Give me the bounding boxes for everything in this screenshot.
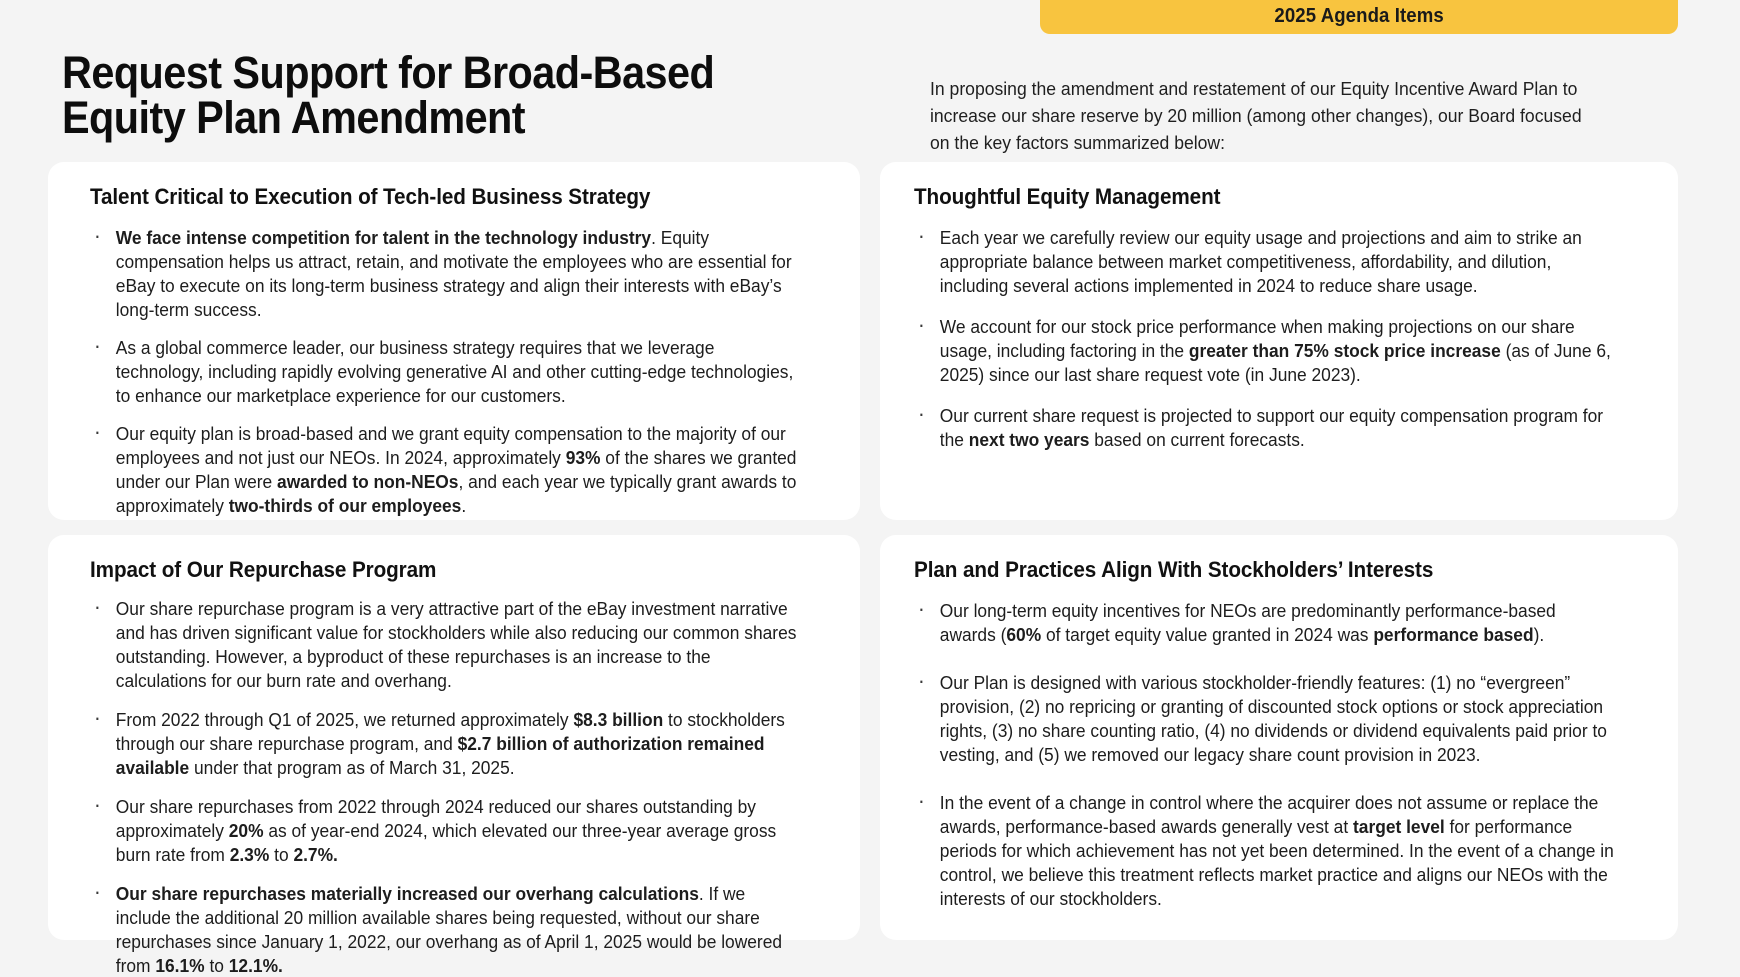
bullet-item: Our share repurchases materially increas… xyxy=(90,882,797,977)
card-heading: Talent Critical to Execution of Tech-led… xyxy=(90,184,786,210)
page-title: Request Support for Broad-Based Equity P… xyxy=(62,50,761,140)
bullet-emphasis: We face intense competition for talent i… xyxy=(116,228,651,248)
bullet-emphasis: 20% xyxy=(229,821,264,841)
bullet-list: We face intense competition for talent i… xyxy=(90,226,830,518)
bullet-emphasis: next two years xyxy=(969,430,1090,450)
bullet-item: In the event of a change in control wher… xyxy=(914,791,1615,911)
bullet-text: to xyxy=(205,956,229,976)
intro-paragraph: In proposing the amendment and restateme… xyxy=(930,76,1600,156)
bullet-item: Our Plan is designed with various stockh… xyxy=(914,671,1615,767)
bullet-emphasis: 93% xyxy=(566,448,601,468)
bullet-emphasis: 2.7%. xyxy=(293,845,337,865)
bullet-emphasis: 2.3% xyxy=(230,845,270,865)
card-plan-practices-align: Plan and Practices Align With Stockholde… xyxy=(880,535,1678,940)
bullet-text: As a global commerce leader, our busines… xyxy=(116,338,794,406)
card-heading: Impact of Our Repurchase Program xyxy=(90,557,786,583)
agenda-banner-label: 2025 Agenda Items xyxy=(1274,5,1443,28)
bullet-text: Our share repurchase program is a very a… xyxy=(116,599,797,691)
bullet-text: From 2022 through Q1 of 2025, we returne… xyxy=(116,710,574,730)
bullet-text: ). xyxy=(1534,625,1545,645)
card-talent-critical: Talent Critical to Execution of Tech-led… xyxy=(48,162,860,520)
bullet-emphasis: awarded to non-NEOs xyxy=(277,472,458,492)
bullet-text: Our Plan is designed with various stockh… xyxy=(940,673,1607,765)
bullet-list: Each year we carefully review our equity… xyxy=(914,226,1648,452)
bullet-item: Our share repurchase program is a very a… xyxy=(90,597,797,693)
bullet-list: Our share repurchase program is a very a… xyxy=(90,597,830,977)
bullet-text: Each year we carefully review our equity… xyxy=(940,228,1582,296)
bullet-item: As a global commerce leader, our busines… xyxy=(90,336,797,408)
bullet-text: of target equity value granted in 2024 w… xyxy=(1041,625,1373,645)
bullet-item: Each year we carefully review our equity… xyxy=(914,226,1615,298)
bullet-text: based on current forecasts. xyxy=(1089,430,1304,450)
card-heading: Thoughtful Equity Management xyxy=(914,184,1604,210)
bullet-item: From 2022 through Q1 of 2025, we returne… xyxy=(90,708,797,780)
bullet-text: . xyxy=(461,496,466,516)
bullet-item: Our equity plan is broad-based and we gr… xyxy=(90,422,797,518)
card-thoughtful-equity-management: Thoughtful Equity Management Each year w… xyxy=(880,162,1678,520)
bullet-emphasis: 12.1%. xyxy=(229,956,283,976)
bullet-item: Our long-term equity incentives for NEOs… xyxy=(914,599,1615,647)
card-impact-repurchase-program: Impact of Our Repurchase Program Our sha… xyxy=(48,535,860,940)
agenda-banner: 2025 Agenda Items xyxy=(1040,0,1678,34)
slide-root: 2025 Agenda Items Request Support for Br… xyxy=(0,0,1740,977)
bullet-emphasis: 60% xyxy=(1006,625,1041,645)
bullet-emphasis: two-thirds of our employees xyxy=(229,496,462,516)
bullet-emphasis: target level xyxy=(1353,817,1445,837)
card-heading: Plan and Practices Align With Stockholde… xyxy=(914,557,1604,583)
bullet-emphasis: greater than 75% stock price increase xyxy=(1189,341,1501,361)
bullet-emphasis: Our share repurchases materially increas… xyxy=(116,884,699,904)
bullet-list: Our long-term equity incentives for NEOs… xyxy=(914,599,1648,911)
bullet-item: We account for our stock price performan… xyxy=(914,315,1615,387)
bullet-text: under that program as of March 31, 2025. xyxy=(189,758,514,778)
bullet-text: to xyxy=(269,845,293,865)
bullet-item: Our current share request is projected t… xyxy=(914,404,1615,452)
bullet-emphasis: 16.1% xyxy=(155,956,204,976)
bullet-emphasis: performance based xyxy=(1373,625,1533,645)
bullet-emphasis: $8.3 billion xyxy=(573,710,663,730)
bullet-item: We face intense competition for talent i… xyxy=(90,226,797,322)
bullet-item: Our share repurchases from 2022 through … xyxy=(90,795,797,867)
